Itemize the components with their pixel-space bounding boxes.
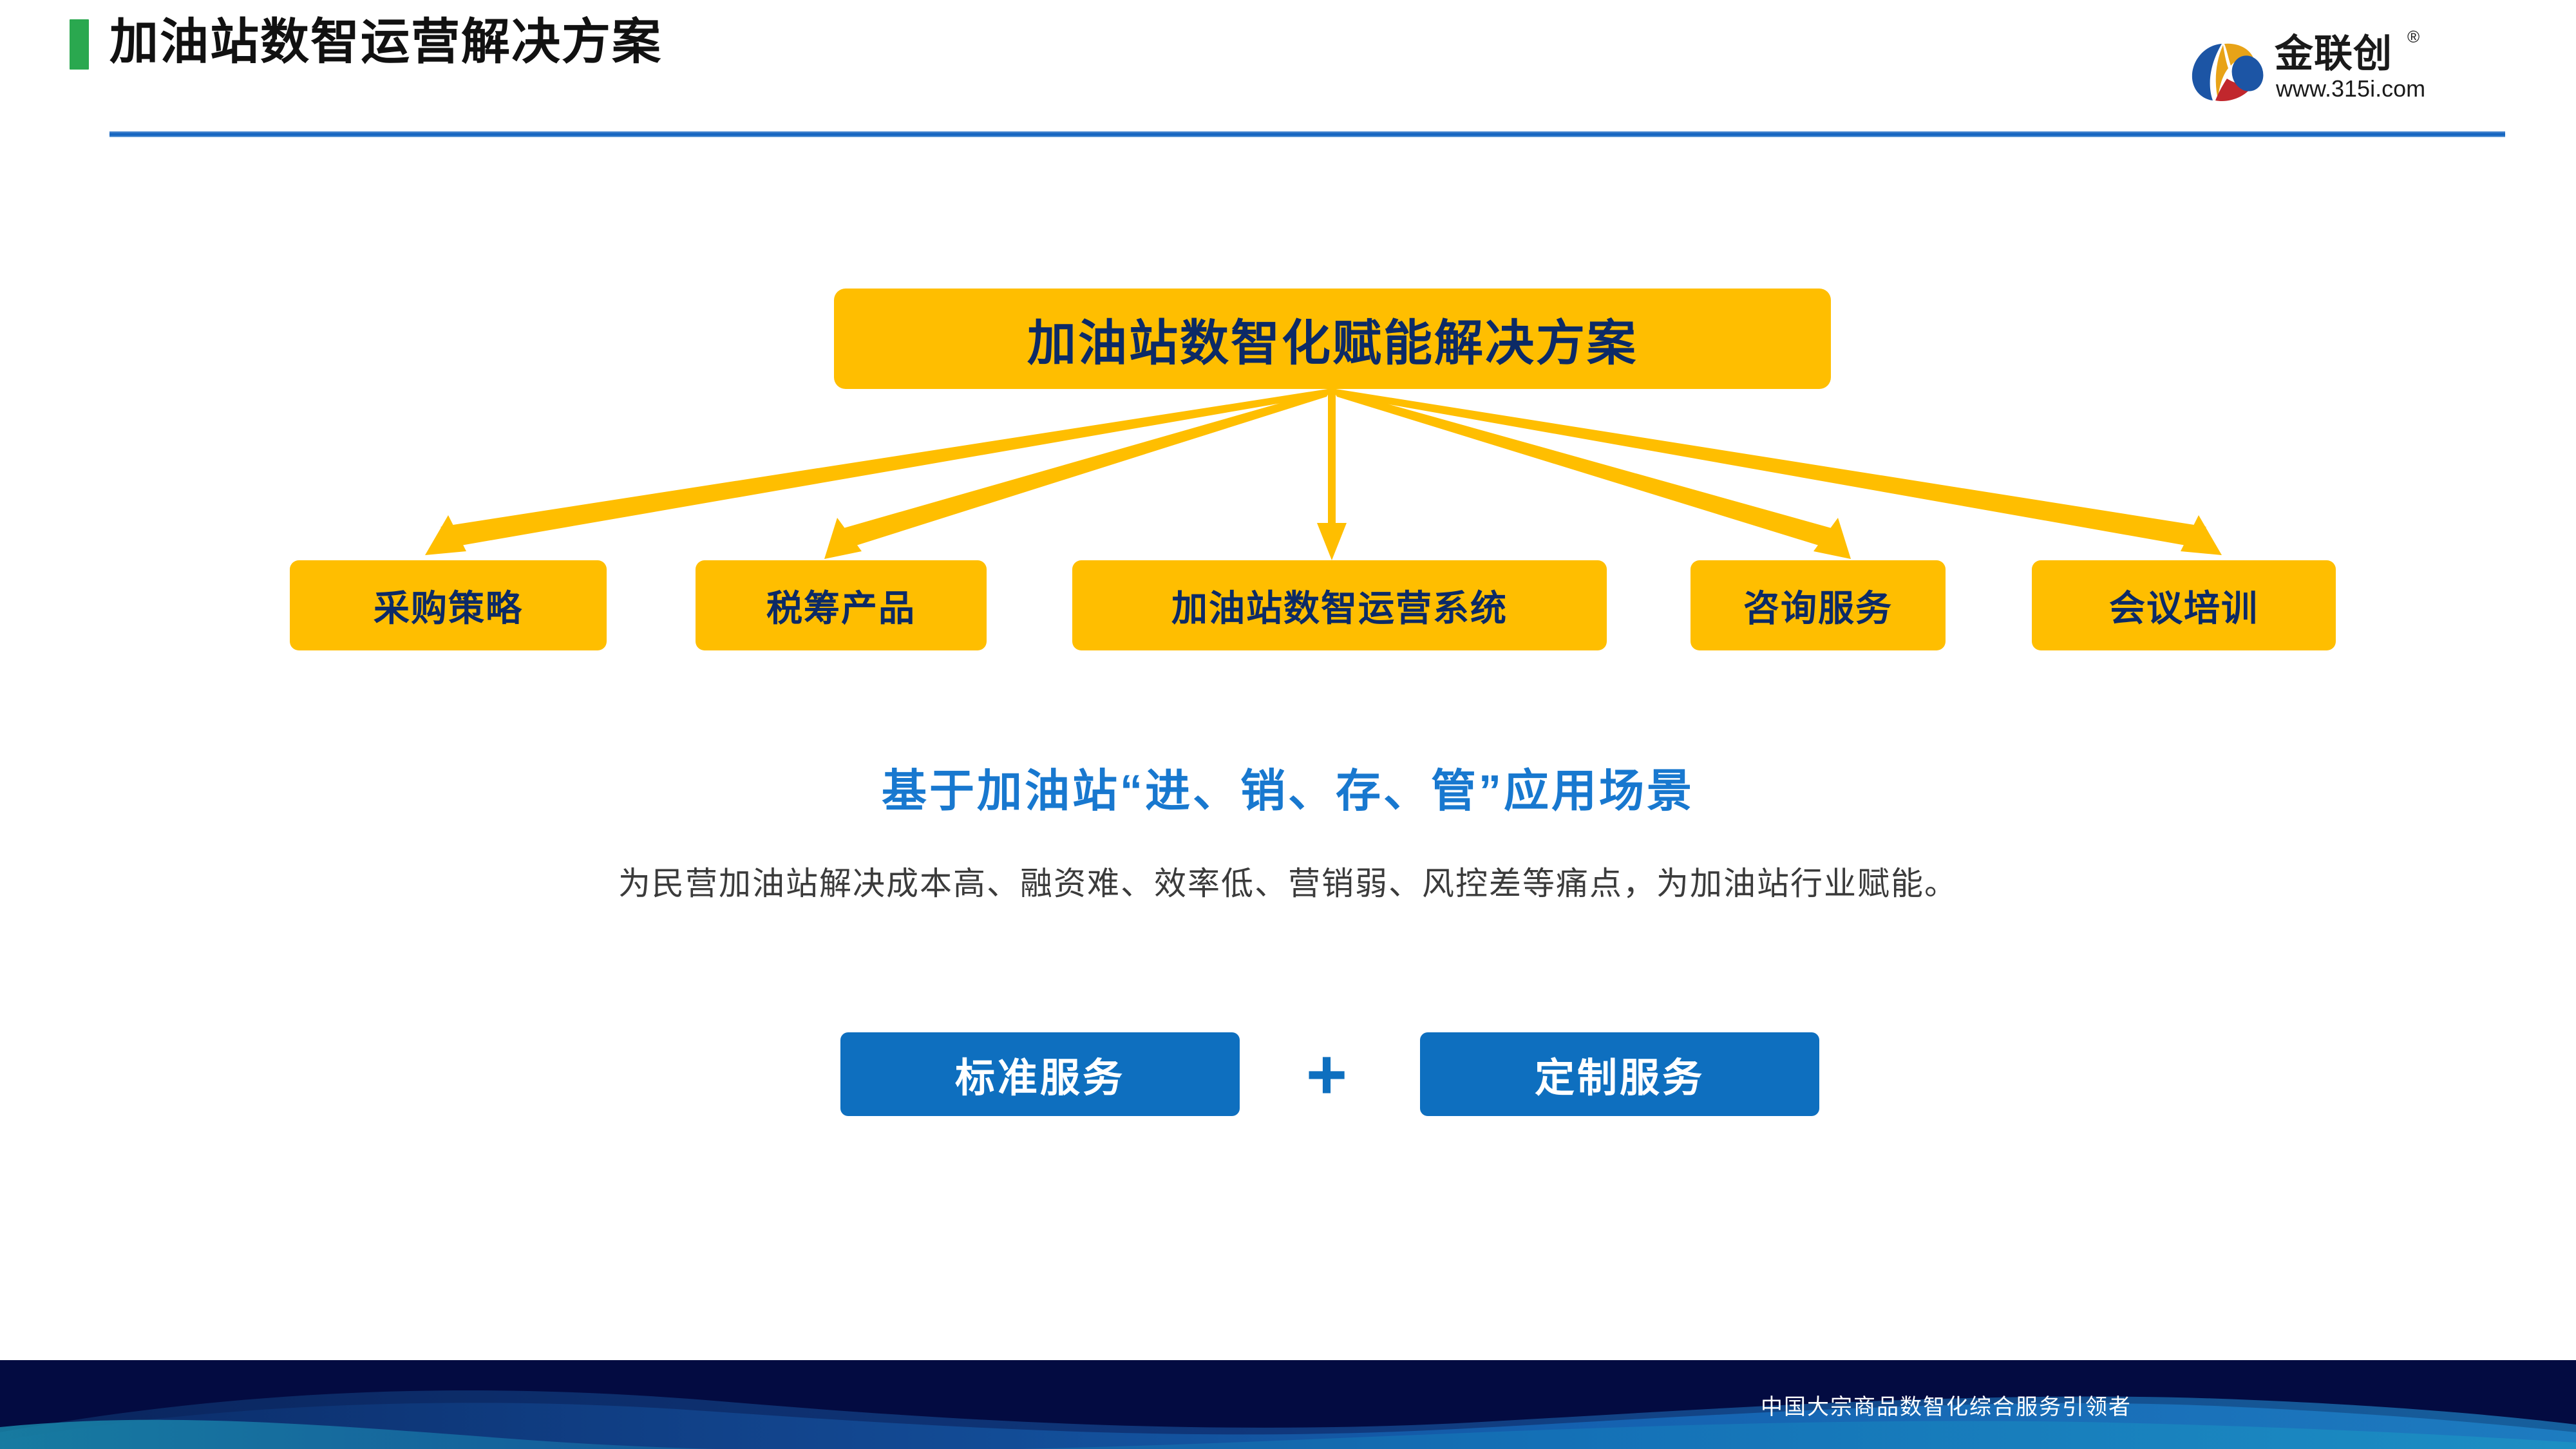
diagram-branch-operations-system[interactable]: 加油站数智运营系统 [1072,560,1607,650]
standard-service-label: 标准服务 [955,1045,1125,1103]
diagram-branch-consulting[interactable]: 咨询服务 [1690,560,1946,650]
diagram-branch-label: 会议培训 [2109,580,2259,632]
diagram-branch-label: 税筹产品 [766,580,916,632]
custom-service-label: 定制服务 [1535,1045,1705,1103]
diagram-branch-tax-product[interactable]: 税筹产品 [696,560,987,650]
diagram-connectors [0,0,2576,1449]
diagram-branch-training[interactable]: 会议培训 [2032,560,2336,650]
diagram-root-label: 加油站数智化赋能解决方案 [1027,303,1638,374]
diagram-branch-label: 咨询服务 [1743,580,1893,632]
diagram-branch-label: 加油站数智运营系统 [1171,580,1508,632]
diagram-branch-label: 采购策略 [374,580,523,632]
plus-icon: + [1282,1039,1372,1110]
standard-service-button[interactable]: 标准服务 [840,1032,1240,1116]
scenario-description: 为民营加油站解决成本高、融资难、效率低、营销弱、风控差等痛点，为加油站行业赋能。 [0,858,2576,904]
diagram-branch-procurement[interactable]: 采购策略 [290,560,607,650]
footer-tagline: 中国大宗商品数智化综合服务引领者 [0,1360,2576,1449]
slide-footer: 中国大宗商品数智化综合服务引领者 [0,1360,2576,1449]
slide-root: 加油站数智运营解决方案 金联创 ® www.315i.com [0,0,2576,1449]
diagram-root-node[interactable]: 加油站数智化赋能解决方案 [834,289,1831,389]
custom-service-button[interactable]: 定制服务 [1420,1032,1819,1116]
scenario-heading: 基于加油站“进、销、存、管”应用场景 [0,755,2576,820]
